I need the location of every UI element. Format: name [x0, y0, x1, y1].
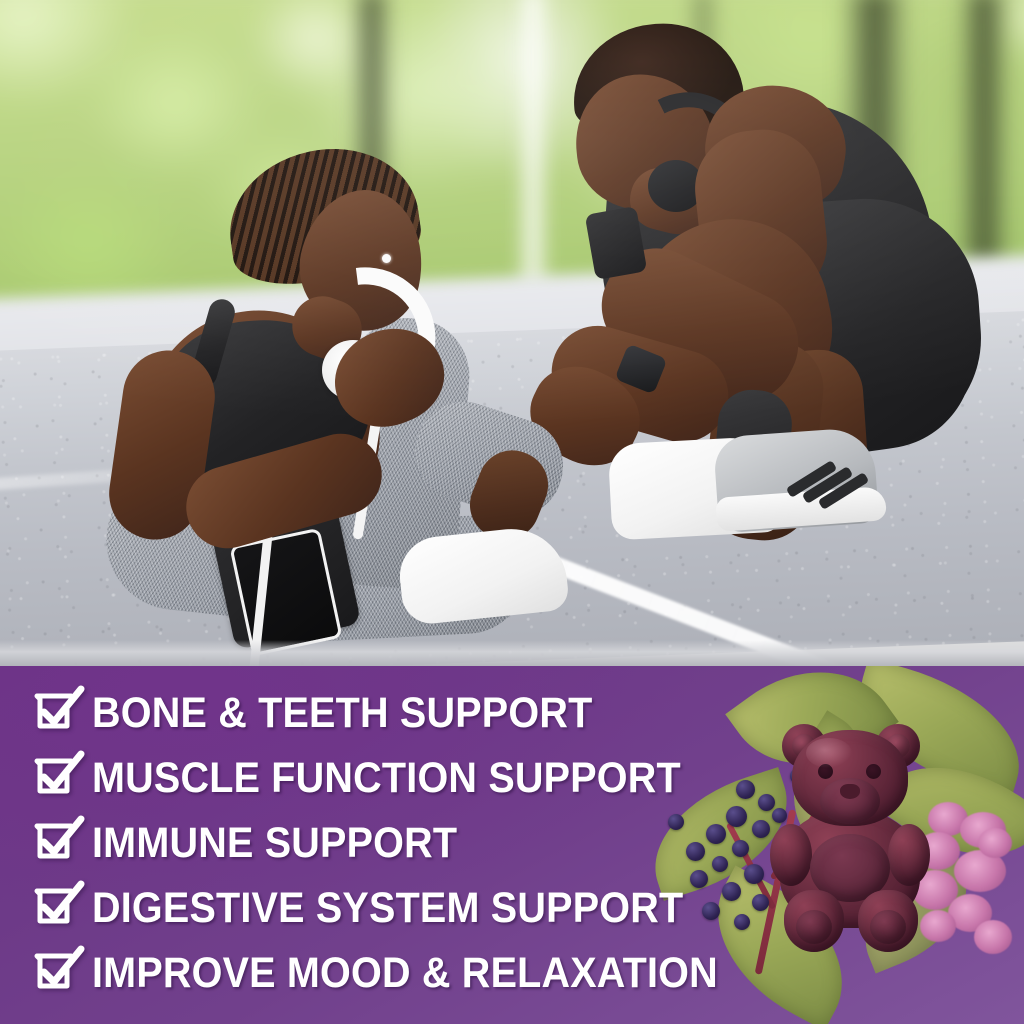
- person-woman: [96, 150, 566, 650]
- benefit-label: IMMUNE SUPPORT: [92, 822, 457, 865]
- hero-photo: [0, 0, 1024, 666]
- benefit-label: DIGESTIVE SYSTEM SUPPORT: [92, 887, 683, 930]
- benefit-label: IMPROVE MOOD & RELAXATION: [92, 952, 718, 995]
- photo-bottom-fade: [0, 640, 1024, 666]
- benefit-label: BONE & TEETH SUPPORT: [92, 692, 592, 735]
- elderflower-icon: [978, 828, 1012, 858]
- benefit-row: DIGESTIVE SYSTEM SUPPORT: [36, 879, 896, 937]
- checkbox-checked-icon: [36, 887, 78, 929]
- benefits-panel: BONE & TEETH SUPPORT MUSCLE FUNCTION SUP…: [0, 666, 1024, 1024]
- benefit-row: BONE & TEETH SUPPORT: [36, 684, 896, 742]
- checkbox-checked-icon: [36, 952, 78, 994]
- checkbox-checked-icon: [36, 757, 78, 799]
- benefit-row: MUSCLE FUNCTION SUPPORT: [36, 749, 896, 807]
- checkbox-checked-icon: [36, 822, 78, 864]
- benefits-list: BONE & TEETH SUPPORT MUSCLE FUNCTION SUP…: [36, 684, 896, 1009]
- benefit-row: IMMUNE SUPPORT: [36, 814, 896, 872]
- checkbox-checked-icon: [36, 692, 78, 734]
- elderflower-icon: [974, 920, 1012, 954]
- person-man: [520, 20, 990, 640]
- benefit-row: IMPROVE MOOD & RELAXATION: [36, 944, 896, 1002]
- product-benefits-graphic: BONE & TEETH SUPPORT MUSCLE FUNCTION SUP…: [0, 0, 1024, 1024]
- benefit-label: MUSCLE FUNCTION SUPPORT: [92, 757, 681, 800]
- man-armband: [585, 206, 648, 280]
- woman-earring: [382, 254, 391, 263]
